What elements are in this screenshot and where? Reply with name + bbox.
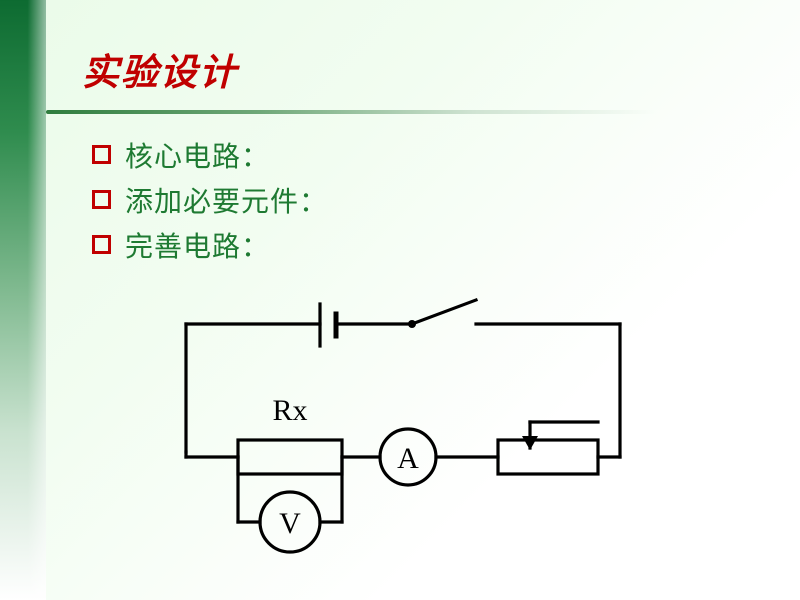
list-item: 核心电路： xyxy=(92,132,612,177)
square-outline-icon xyxy=(92,235,111,254)
ammeter-label: A xyxy=(397,442,419,475)
square-outline-icon xyxy=(92,190,111,209)
square-outline-icon xyxy=(92,145,111,164)
resistor-rx-body xyxy=(238,440,342,474)
page-title: 实验设计 xyxy=(82,42,238,96)
left-accent-bar-highlight xyxy=(0,0,46,600)
resistor-label: Rx xyxy=(272,394,307,427)
left-accent-bar xyxy=(0,0,46,600)
voltmeter-label: V xyxy=(279,507,301,540)
list-item: 添加必要元件： xyxy=(92,177,612,222)
list-item: 完善电路： xyxy=(92,222,612,267)
list-item-label: 完善电路： xyxy=(125,225,270,265)
list-item-label: 添加必要元件： xyxy=(125,180,328,220)
bullet-list: 核心电路： 添加必要元件： 完善电路： xyxy=(92,132,612,267)
rheostat-arrow-head xyxy=(522,436,538,450)
title-divider xyxy=(46,110,656,114)
rheostat-body xyxy=(498,440,598,474)
list-item-label: 核心电路： xyxy=(125,135,270,175)
switch-lever xyxy=(412,300,476,324)
circuit-diagram: Rx A V xyxy=(150,272,670,562)
slide: 实验设计 核心电路： 添加必要元件： 完善电路： xyxy=(0,0,800,600)
